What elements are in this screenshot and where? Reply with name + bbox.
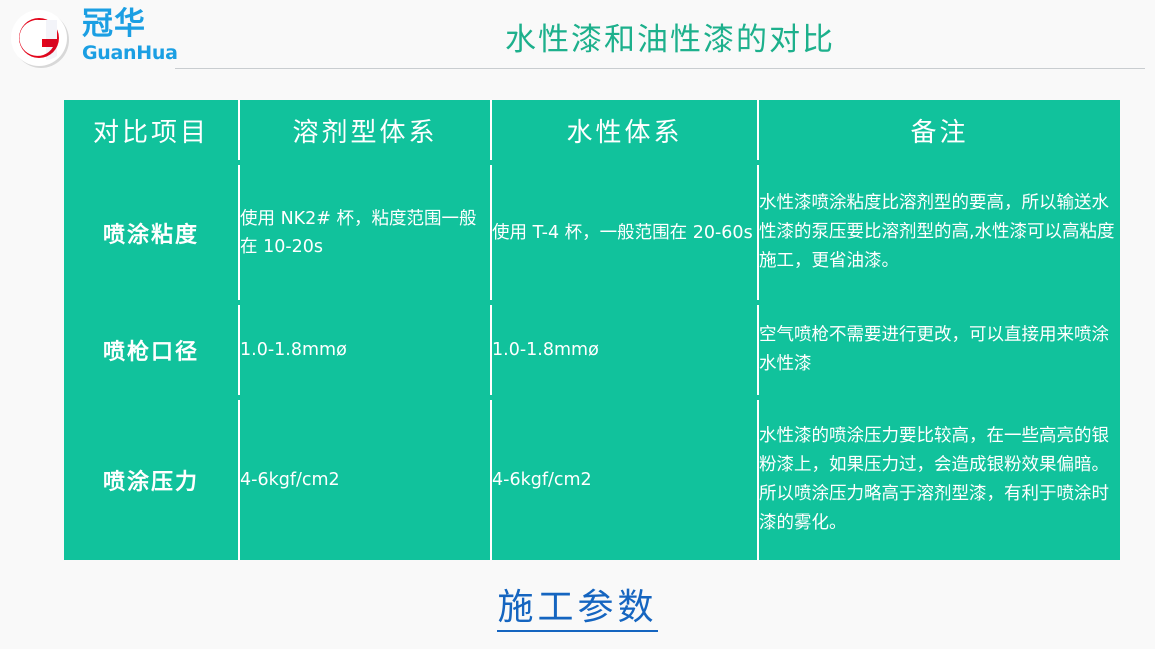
brand-name-cn: 冠华 [82,7,192,41]
footer-caption-text: 施工参数 [497,587,657,632]
cell-waterborne-pressure: 4-6kgf/cm2 [490,400,757,560]
comparison-table: 对比项目 溶剂型体系 水性体系 备注 喷涂粘度 使用 NK2# 杯，粘度范围一般… [64,100,1120,560]
table-row: 喷枪口径 1.0-1.8mmø 1.0-1.8mmø 空气喷枪不需要进行更改，可… [64,305,1120,395]
table-header: 对比项目 溶剂型体系 水性体系 备注 [64,100,1120,160]
cell-solvent-viscosity: 使用 NK2# 杯，粘度范围一般在 10-20s [238,165,490,300]
cell-waterborne-viscosity: 使用 T-4 杯，一般范围在 20-60s [490,165,757,300]
row-label-viscosity: 喷涂粘度 [64,165,238,300]
slide-header: 冠华 GuanHua 水性漆和油性漆的对比 [0,0,1155,90]
title-divider [175,68,1145,69]
table-row: 喷涂粘度 使用 NK2# 杯，粘度范围一般在 10-20s 使用 T-4 杯，一… [64,165,1120,300]
cell-solvent-nozzle: 1.0-1.8mmø [238,305,490,395]
footer-caption: 施工参数 [0,578,1155,630]
cell-remark-viscosity: 水性漆喷涂粘度比溶剂型的要高，所以输送水性漆的泵压要比溶剂型的高,水性漆可以高粘… [757,165,1120,300]
guanhua-circle-g-logo-icon [8,7,72,71]
table-body: 喷涂粘度 使用 NK2# 杯，粘度范围一般在 10-20s 使用 T-4 杯，一… [64,160,1120,560]
column-header-waterborne: 水性体系 [490,100,757,160]
cell-waterborne-nozzle: 1.0-1.8mmø [490,305,757,395]
table-row: 喷涂压力 4-6kgf/cm2 4-6kgf/cm2 水性漆的喷涂压力要比较高，… [64,400,1120,560]
row-label-pressure: 喷涂压力 [64,400,238,560]
row-label-nozzle: 喷枪口径 [64,305,238,395]
column-header-remark: 备注 [757,100,1120,160]
brand-name-en: GuanHua [82,41,192,65]
brand-wordmark: 冠华 GuanHua [82,7,192,71]
column-header-item: 对比项目 [64,100,238,160]
table-header-row: 对比项目 溶剂型体系 水性体系 备注 [64,100,1120,160]
cell-remark-nozzle: 空气喷枪不需要进行更改，可以直接用来喷涂水性漆 [757,305,1120,395]
page-title: 水性漆和油性漆的对比 [190,14,1150,59]
brand-logo: 冠华 GuanHua [8,5,188,75]
cell-remark-pressure: 水性漆的喷涂压力要比较高，在一些高亮的银粉漆上，如果压力过，会造成银粉效果偏暗。… [757,400,1120,560]
cell-solvent-pressure: 4-6kgf/cm2 [238,400,490,560]
column-header-solvent: 溶剂型体系 [238,100,490,160]
